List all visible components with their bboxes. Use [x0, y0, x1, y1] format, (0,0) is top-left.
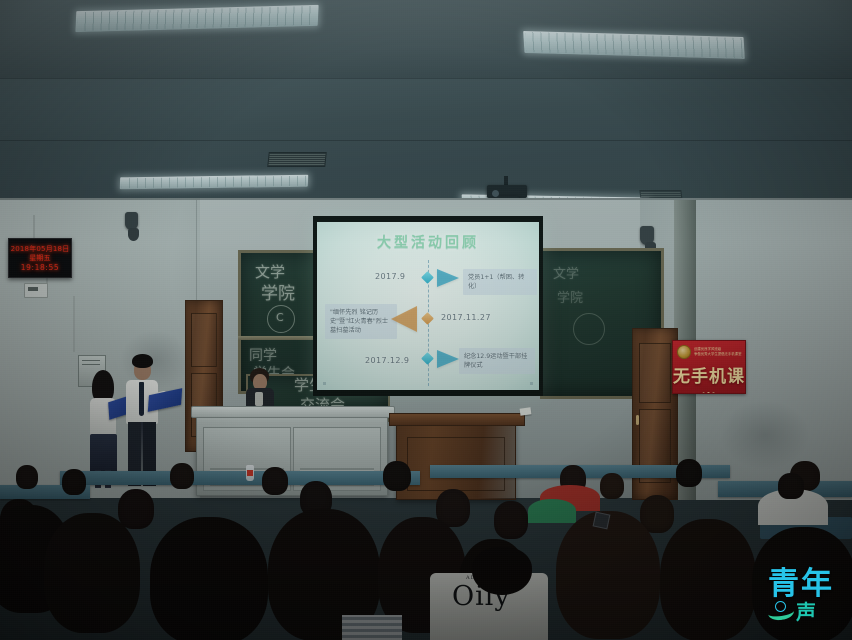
- projection-screen: 大型活动回顾 2017.9 党员1+1（帮困、转化） "缅怀先烈 铭记历史"暨"…: [317, 222, 539, 390]
- audience-head-large: [556, 511, 660, 639]
- timeline-arrow-left: [391, 306, 417, 332]
- audience-head: [170, 463, 194, 489]
- air-vent: [267, 152, 327, 167]
- chalk-text: 同学: [249, 345, 277, 365]
- watermark-char-2: 年: [801, 568, 832, 600]
- podium-top: [191, 406, 395, 418]
- watermark-swoosh-icon: [768, 601, 794, 623]
- audience-head: [494, 501, 528, 539]
- audience-head: [262, 467, 288, 495]
- chalk-text: 学院: [557, 287, 583, 306]
- timeline-label: "缅怀先烈 铭记历史"暨"红火青春"烈士墓扫墓活动: [325, 304, 397, 339]
- watermark-spark-icon: [775, 601, 786, 612]
- timeline-node: [421, 352, 434, 365]
- watermark-char-4: 声: [796, 600, 816, 624]
- sign-subtitle-2: 争做优秀大学生提倡无手机课堂: [694, 352, 741, 357]
- timeline-date: 2017.11.27: [441, 313, 491, 322]
- chalk-rail: [238, 336, 320, 340]
- watermark-logo: 青 年 声: [768, 556, 846, 636]
- projector-lens: [492, 190, 499, 197]
- chalk-text: 文学: [553, 263, 579, 282]
- audience-head-large: [472, 547, 532, 595]
- audience-head: [778, 473, 804, 499]
- microphone: [255, 392, 263, 406]
- ceiling-light: [120, 175, 309, 190]
- chalk-circle: [573, 313, 605, 345]
- water-bottle: [246, 465, 254, 481]
- audience-shirt: [342, 615, 402, 640]
- hair: [132, 354, 153, 368]
- led-clock-date: 2018年05月18日: [11, 245, 70, 254]
- audience-shoulders: [528, 499, 576, 523]
- audience-head: [118, 489, 154, 529]
- audience-head-large: [660, 519, 756, 640]
- slide-title: 大型活动回顾: [317, 232, 539, 252]
- timeline-node: [421, 271, 434, 284]
- audience-head-large: [44, 513, 140, 633]
- audience-head: [676, 459, 702, 487]
- lectern-top: [389, 413, 525, 426]
- wall-control-box: [24, 283, 48, 298]
- audience-head: [16, 465, 38, 489]
- led-clock-weekday: 星期五: [29, 254, 51, 263]
- security-camera: [128, 228, 139, 241]
- wall-conduit: [73, 296, 75, 352]
- slide-corner-mark: [530, 382, 533, 385]
- audience-head: [383, 461, 411, 491]
- timeline-label: 党员1+1（帮困、转化）: [463, 269, 537, 295]
- led-clock: 2018年05月18日 星期五 19:18:55: [8, 238, 72, 278]
- timeline-arrow-right: [437, 350, 459, 368]
- emblem-icon: [677, 345, 691, 359]
- necktie: [139, 382, 144, 416]
- timeline-node: [421, 312, 434, 325]
- timeline-date: 2017.9: [375, 272, 405, 281]
- audience-head: [600, 473, 624, 499]
- hair-clip: [593, 512, 611, 530]
- audience-area: ALL Oily: [0, 455, 852, 640]
- audience-head: [62, 469, 86, 495]
- led-clock-time: 19:18:55: [21, 263, 59, 272]
- timeline-arrow-right: [437, 269, 459, 287]
- timeline-label: 纪念12.9运动暨干部挂牌仪式: [459, 348, 535, 374]
- slide-corner-mark: [323, 382, 326, 385]
- desk-row: [60, 471, 420, 485]
- door-handle[interactable]: [636, 415, 639, 425]
- timeline-date: 2017.12.9: [365, 356, 409, 365]
- projection-screen-frame: 大型活动回顾 2017.9 党员1+1（帮困、转化） "缅怀先烈 铭记历史"暨"…: [313, 216, 543, 396]
- ceiling: [0, 0, 852, 205]
- audience-head-large: [150, 517, 268, 640]
- no-phone-classroom-sign: 创建优良学风班级 争做优秀大学生提倡无手机课堂 无手机课堂: [672, 340, 746, 394]
- watermark-char-1: 青: [768, 568, 799, 600]
- lecture-hall-photo: 2018年05月18日 星期五 19:18:55 文学 学院 C 同学 学生会 …: [0, 0, 852, 640]
- chalk-text: C: [276, 311, 284, 324]
- sign-main-text: 无手机课堂: [673, 362, 745, 394]
- chalk-text: 学院: [261, 279, 295, 304]
